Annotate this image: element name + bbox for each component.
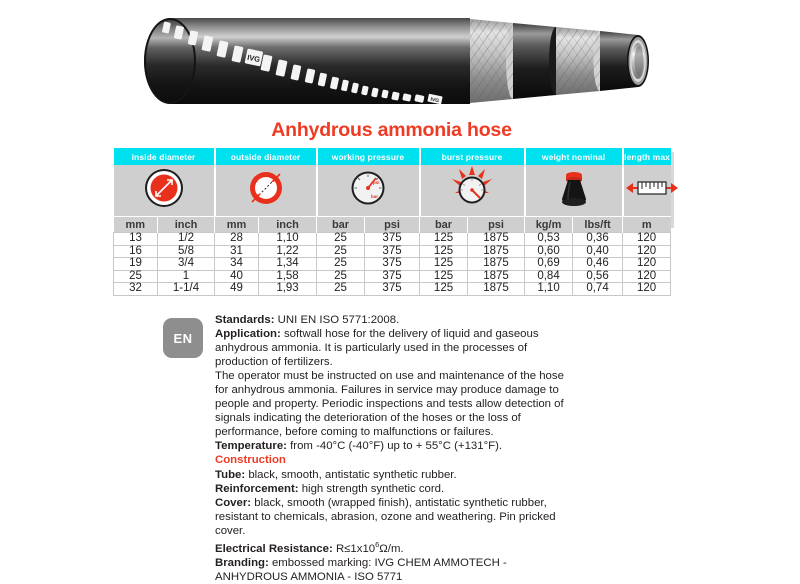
group-header-inside-diameter: inside diameter bbox=[114, 148, 215, 165]
standards-line: Standards: UNI EN ISO 5771:2008. bbox=[215, 313, 571, 327]
cell: 120 bbox=[623, 233, 671, 246]
table-row: 25 1 40 1,58 25 375 125 1875 0,84 0,56 1… bbox=[114, 270, 671, 283]
cell: 0,60 bbox=[525, 245, 573, 258]
cell: 375 bbox=[365, 233, 420, 246]
unit-inside-mm: mm bbox=[114, 217, 158, 233]
cell: 0,53 bbox=[525, 233, 573, 246]
unit-working-psi: psi bbox=[365, 217, 420, 233]
reinforcement-text: high strength synthetic cord. bbox=[299, 483, 445, 495]
cell: 0,74 bbox=[573, 283, 623, 296]
cell: 13 bbox=[114, 233, 158, 246]
electrical-resistance-value-pre: R≤1x10 bbox=[333, 543, 375, 555]
unit-burst-bar: bar bbox=[420, 217, 468, 233]
cell: 0,40 bbox=[573, 245, 623, 258]
cell: 32 bbox=[114, 283, 158, 296]
spec-table-group-header: inside diameter outside diameter working… bbox=[114, 148, 671, 165]
cell: 16 bbox=[114, 245, 158, 258]
table-row: 13 1/2 28 1,10 25 375 125 1875 0,53 0,36… bbox=[114, 233, 671, 246]
cell: 1875 bbox=[468, 270, 525, 283]
electrical-resistance-line: Electrical Resistance: R≤1x106Ω/m. bbox=[215, 538, 571, 556]
length-ruler-icon bbox=[624, 173, 680, 203]
working-pressure-icon-cell: psi bar bbox=[317, 165, 420, 217]
cell: 1875 bbox=[468, 245, 525, 258]
cell: 375 bbox=[365, 270, 420, 283]
branding-label: Branding: bbox=[215, 557, 269, 569]
tube-label: Tube: bbox=[215, 469, 245, 481]
table-row: 19 3/4 34 1,34 25 375 125 1875 0,69 0,46… bbox=[114, 258, 671, 271]
cell: 120 bbox=[623, 283, 671, 296]
cell: 25 bbox=[114, 270, 158, 283]
table-row: 16 5/8 31 1,22 25 375 125 1875 0,60 0,40… bbox=[114, 245, 671, 258]
temperature-line: Temperature: from -40°C (-40°F) up to + … bbox=[215, 439, 571, 453]
burst-pressure-gauge-icon bbox=[449, 165, 495, 211]
cell: 125 bbox=[420, 245, 468, 258]
group-header-burst-pressure: burst pressure bbox=[420, 148, 525, 165]
cell: 1875 bbox=[468, 233, 525, 246]
cell: 0,36 bbox=[573, 233, 623, 246]
spec-table-unit-row: mm inch mm inch bar psi bar psi kg/m lbs… bbox=[114, 217, 671, 233]
group-header-working-pressure: working pressure bbox=[317, 148, 420, 165]
unit-working-bar: bar bbox=[317, 217, 365, 233]
cell: 49 bbox=[215, 283, 259, 296]
outside-diameter-icon bbox=[243, 165, 289, 211]
tube-text: black, smooth, antistatic synthetic rubb… bbox=[245, 469, 456, 481]
cell: 0,46 bbox=[573, 258, 623, 271]
cell: 125 bbox=[420, 283, 468, 296]
temperature-text: from -40°C (-40°F) up to + 55°C (+131°F)… bbox=[287, 440, 502, 452]
hose-cutaway-layers bbox=[470, 19, 649, 103]
cell: 1875 bbox=[468, 258, 525, 271]
inside-diameter-icon bbox=[141, 165, 187, 211]
group-header-length-max: length max bbox=[623, 148, 671, 165]
cell: 125 bbox=[420, 233, 468, 246]
inside-diameter-icon-cell bbox=[114, 165, 215, 217]
language-badge-en: EN bbox=[163, 318, 203, 358]
unit-burst-psi: psi bbox=[468, 217, 525, 233]
cell: 28 bbox=[215, 233, 259, 246]
cover-label: Cover: bbox=[215, 497, 251, 509]
application-label: Application: bbox=[215, 328, 281, 340]
cell: 40 bbox=[215, 270, 259, 283]
hose-illustration: IVG IVG bbox=[0, 0, 800, 118]
cell: 120 bbox=[623, 258, 671, 271]
cell: 1-1/4 bbox=[158, 283, 215, 296]
standards-label: Standards: bbox=[215, 314, 275, 326]
hose-body: IVG IVG bbox=[144, 18, 470, 104]
unit-weight-kgm: kg/m bbox=[525, 217, 573, 233]
weight-icon bbox=[551, 165, 597, 211]
cell: 1,10 bbox=[259, 233, 317, 246]
working-pressure-gauge-icon: psi bar bbox=[345, 165, 391, 211]
table-row: 32 1-1/4 49 1,93 25 375 125 1875 1,10 0,… bbox=[114, 283, 671, 296]
unit-length-m: m bbox=[623, 217, 671, 233]
outside-diameter-icon-cell bbox=[215, 165, 317, 217]
cell: 125 bbox=[420, 270, 468, 283]
application-line: Application: softwall hose for the deliv… bbox=[215, 327, 571, 369]
cell: 25 bbox=[317, 233, 365, 246]
burst-pressure-icon-cell bbox=[420, 165, 525, 217]
reinforcement-label: Reinforcement: bbox=[215, 483, 299, 495]
weight-nominal-icon-cell bbox=[525, 165, 623, 217]
group-header-outside-diameter: outside diameter bbox=[215, 148, 317, 165]
cell: 375 bbox=[365, 258, 420, 271]
cell: 1875 bbox=[468, 283, 525, 296]
cell: 1/2 bbox=[158, 233, 215, 246]
cell: 3/4 bbox=[158, 258, 215, 271]
cell: 120 bbox=[623, 270, 671, 283]
cell: 1,93 bbox=[259, 283, 317, 296]
tube-line: Tube: black, smooth, antistatic syntheti… bbox=[215, 468, 571, 482]
svg-text:bar: bar bbox=[371, 194, 378, 199]
electrical-resistance-label: Electrical Resistance: bbox=[215, 543, 333, 555]
standards-text: UNI EN ISO 5771:2008. bbox=[275, 314, 400, 326]
cell: 125 bbox=[420, 258, 468, 271]
cell: 5/8 bbox=[158, 245, 215, 258]
cell: 25 bbox=[317, 258, 365, 271]
product-description: Standards: UNI EN ISO 5771:2008. Applica… bbox=[215, 313, 571, 584]
unit-weight-lbsft: lbs/ft bbox=[573, 217, 623, 233]
group-header-weight-nominal: weight nominal bbox=[525, 148, 623, 165]
page-title: Anhydrous ammonia hose bbox=[113, 118, 670, 142]
cell: 1 bbox=[158, 270, 215, 283]
unit-inside-inch: inch bbox=[158, 217, 215, 233]
spec-table-container: inside diameter outside diameter working… bbox=[113, 148, 670, 296]
cover-line: Cover: black, smooth (wrapped finish), a… bbox=[215, 496, 571, 538]
cell: 0,56 bbox=[573, 270, 623, 283]
cell: 25 bbox=[317, 283, 365, 296]
specifications-table: inside diameter outside diameter working… bbox=[113, 148, 671, 296]
cover-text: black, smooth (wrapped finish), antistat… bbox=[215, 497, 556, 537]
cell: 1,22 bbox=[259, 245, 317, 258]
hose-svg: IVG IVG bbox=[0, 0, 800, 118]
cell: 375 bbox=[365, 245, 420, 258]
cell: 25 bbox=[317, 270, 365, 283]
cell: 0,84 bbox=[525, 270, 573, 283]
cell: 1,10 bbox=[525, 283, 573, 296]
spec-table-icon-row: psi bar bbox=[114, 165, 671, 217]
cell: 0,69 bbox=[525, 258, 573, 271]
unit-outside-inch: inch bbox=[259, 217, 317, 233]
unit-outside-mm: mm bbox=[215, 217, 259, 233]
construction-heading: Construction bbox=[215, 453, 571, 467]
cell: 19 bbox=[114, 258, 158, 271]
temperature-label: Temperature: bbox=[215, 440, 287, 452]
cell: 25 bbox=[317, 245, 365, 258]
operator-line: The operator must be instructed on use a… bbox=[215, 369, 571, 439]
cell: 31 bbox=[215, 245, 259, 258]
cell: 120 bbox=[623, 245, 671, 258]
cell: 1,58 bbox=[259, 270, 317, 283]
cell: 34 bbox=[215, 258, 259, 271]
reinforcement-line: Reinforcement: high strength synthetic c… bbox=[215, 482, 571, 496]
cell: 1,34 bbox=[259, 258, 317, 271]
cell: 375 bbox=[365, 283, 420, 296]
branding-line: Branding: embossed marking: IVG CHEM AMM… bbox=[215, 556, 571, 584]
electrical-resistance-value-post: Ω/m. bbox=[379, 543, 403, 555]
length-max-icon-cell bbox=[623, 165, 671, 217]
